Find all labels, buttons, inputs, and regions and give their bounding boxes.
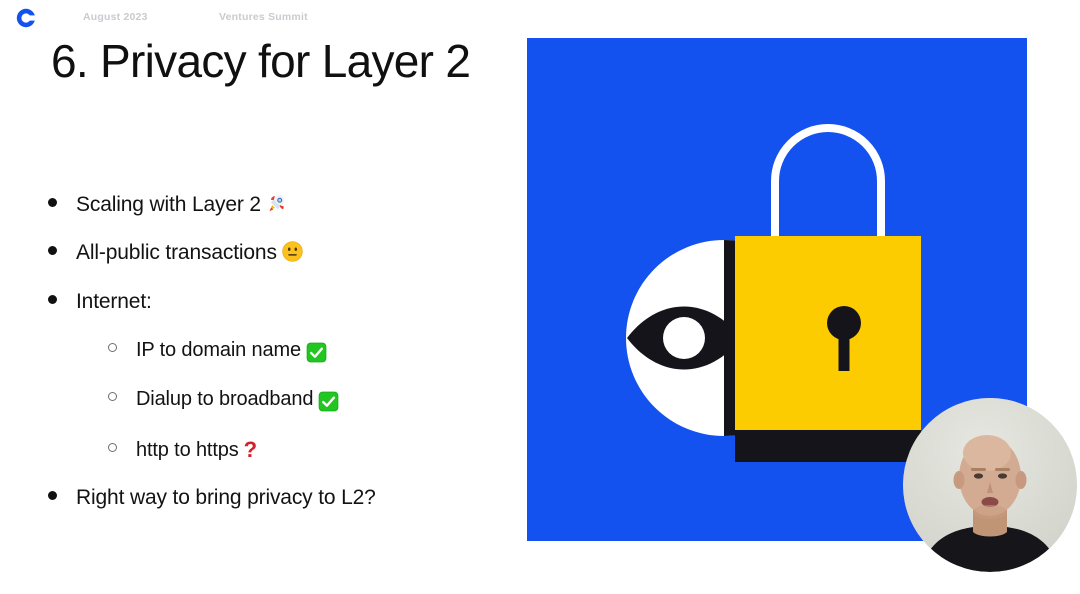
list-item-text: All-public transactions — [76, 241, 303, 268]
red-question-mark-emoji: ? — [244, 437, 257, 463]
list-item-text: http to https? — [136, 437, 257, 463]
list-item: http to https? — [40, 437, 510, 486]
list-item-text: Scaling with Layer 2 — [76, 192, 288, 220]
check-mark-button-emoji — [318, 391, 339, 414]
list-item-text: IP to domain name — [136, 339, 327, 365]
list-item-text: Dialup to broadband — [136, 388, 339, 414]
list-item-text: Internet: — [76, 290, 152, 314]
bullet-list: Scaling with Layer 2 All-public transact… — [40, 192, 510, 535]
list-item: Dialup to broadband — [40, 388, 510, 437]
list-item: Scaling with Layer 2 — [40, 192, 510, 241]
bullet-dot-icon — [40, 246, 76, 255]
coinbase-logo-icon — [16, 8, 36, 28]
list-item-label: Dialup to broadband — [136, 388, 313, 410]
list-item-label: Internet: — [76, 290, 152, 313]
list-item-label: Scaling with Layer 2 — [76, 193, 261, 216]
presenter-webcam-bubble[interactable] — [903, 398, 1077, 572]
list-item: Right way to bring privacy to L2? — [40, 486, 510, 535]
header-event-name: Ventures Summit — [219, 11, 308, 23]
bullet-dot-icon — [40, 295, 76, 304]
bullet-dot-icon — [40, 198, 76, 207]
list-item-text: Right way to bring privacy to L2? — [76, 486, 376, 510]
list-item: IP to domain name — [40, 339, 510, 388]
list-item: Internet: — [40, 290, 510, 339]
page-title: 6. Privacy for Layer 2 — [51, 38, 503, 84]
list-item-label: IP to domain name — [136, 339, 301, 361]
bullet-circle-icon — [100, 343, 136, 352]
bullet-dot-icon — [40, 491, 76, 500]
bullet-circle-icon — [100, 392, 136, 401]
bullet-circle-icon — [100, 443, 136, 452]
list-item-label: Right way to bring privacy to L2? — [76, 486, 376, 509]
list-item-label: http to https — [136, 439, 239, 461]
slide-header: August 2023 Ventures Summit — [0, 0, 1080, 34]
list-item: All-public transactions — [40, 241, 510, 290]
list-item-label: All-public transactions — [76, 241, 277, 264]
header-date: August 2023 — [83, 11, 148, 23]
neutral-face-emoji — [282, 241, 303, 268]
check-mark-button-emoji — [306, 342, 327, 365]
rocket-emoji — [266, 192, 288, 220]
